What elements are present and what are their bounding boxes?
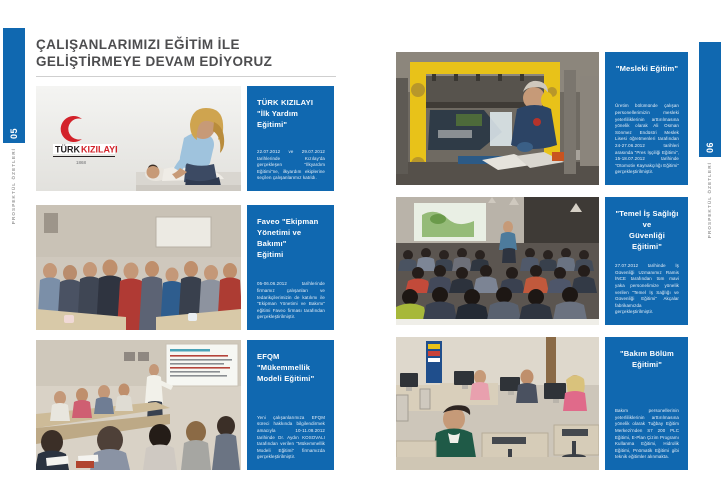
caption-body: 05-06.06.2012 tarihlerinde firmamız çalı… (257, 281, 325, 321)
svg-text:KIZILAYI: KIZILAYI (81, 145, 118, 155)
page-tab-left-vertical-label: PROSPEKTÜL ÖZETLERİ (3, 148, 25, 224)
photo-computer-lab-training (396, 337, 599, 470)
caption-efqm-training: EFQM "Mükemmellik Modeli Eğitimi" Yeni ç… (247, 340, 334, 470)
computer-lab-illustration (396, 337, 599, 470)
page-title: ÇALIŞANLARIMIZI EĞİTİM İLE GELİŞTİRMEYE … (36, 36, 336, 70)
photo-press-operator-workshop (396, 52, 599, 185)
photo-seminar-large-audience (396, 197, 599, 325)
caption-body: 22.07.2012 ve 29.07.2012 tarihlerinde Kı… (257, 149, 325, 182)
page-title-line-1: ÇALIŞANLARIMIZI EĞİTİM İLE (36, 36, 336, 53)
caption-body: 27.07.2012 tarihinde İş Güvenliği Uzmanı… (615, 263, 679, 316)
caption-vocational-training: "Mesleki Eğitim" Üretim bölümünde çalışa… (605, 52, 688, 185)
industrial-press-illustration (396, 52, 599, 185)
caption-title-line-2: Güvenliği Eğitimi" (615, 230, 679, 252)
caption-maintenance-training: "Bakım Bölüm Eğitimi" Bakım personelleri… (605, 337, 688, 470)
caption-title-line-1: TÜRK KIZILAYI (257, 97, 325, 108)
caption-body: Yeni çalışanlarımıza EFQM süreci hakkınd… (257, 415, 325, 461)
classroom-illustration (36, 340, 241, 470)
caption-title-line-2: "İlk Yardım Eğitimi" (257, 108, 325, 130)
page-number-left: 05 (10, 128, 19, 139)
caption-equipment-training: Faveo "Ekipman Yönetimi ve Bakımı" Eğiti… (247, 205, 334, 330)
svg-text:1868: 1868 (76, 160, 87, 165)
caption-ohs-training: "Temel İş Sağlığı ve Güvenliği Eğitimi" … (605, 197, 688, 325)
caption-first-aid-training: TÜRK KIZILAYI "İlk Yardım Eğitimi" 22.07… (247, 86, 334, 191)
page-number-right: 06 (706, 142, 715, 153)
caption-title-line-2: Yönetimi ve Bakımı" (257, 227, 325, 249)
magazine-spread: 05 PROSPEKTÜL ÖZETLERİ 06 PROSPEKTÜL ÖZE… (0, 0, 724, 490)
first-aid-illustration: TÜRK KIZILAYI 1868 (36, 86, 241, 191)
svg-text:TÜRK: TÜRK (55, 145, 80, 155)
photo-group-equipment-training (36, 205, 241, 330)
caption-title-line-2: Modeli Eğitimi" (257, 373, 325, 384)
caption-title-line-3: Eğitimi (257, 249, 325, 260)
page-tab-right-vertical-label: PROSPEKTÜL ÖZETLERİ (699, 162, 721, 238)
caption-title-line-1: "Temel İş Sağlığı ve (615, 208, 679, 230)
page-tab-left: 05 (3, 28, 25, 143)
caption-title-line-1: Faveo "Ekipman (257, 216, 325, 227)
seminar-audience-illustration (396, 197, 599, 325)
caption-body: Bakım personellerinin yeterliliklerinin … (615, 408, 679, 461)
caption-title-line-1: "Mesleki Eğitim" (615, 63, 679, 74)
group-photo-illustration (36, 205, 241, 330)
title-divider (36, 76, 336, 77)
caption-body: Üretim bölümünde çalışan personellerimiz… (615, 103, 679, 176)
caption-title-line-1: EFQM "Mükemmellik (257, 351, 325, 373)
photo-first-aid-training: TÜRK KIZILAYI 1868 (36, 86, 241, 191)
caption-title-line-1: "Bakım Bölüm Eğitimi" (615, 348, 679, 370)
photo-efqm-classroom-training (36, 340, 241, 470)
page-tab-right: 06 (699, 42, 721, 157)
page-title-line-2: GELİŞTİRMEYE DEVAM EDİYORUZ (36, 53, 336, 70)
